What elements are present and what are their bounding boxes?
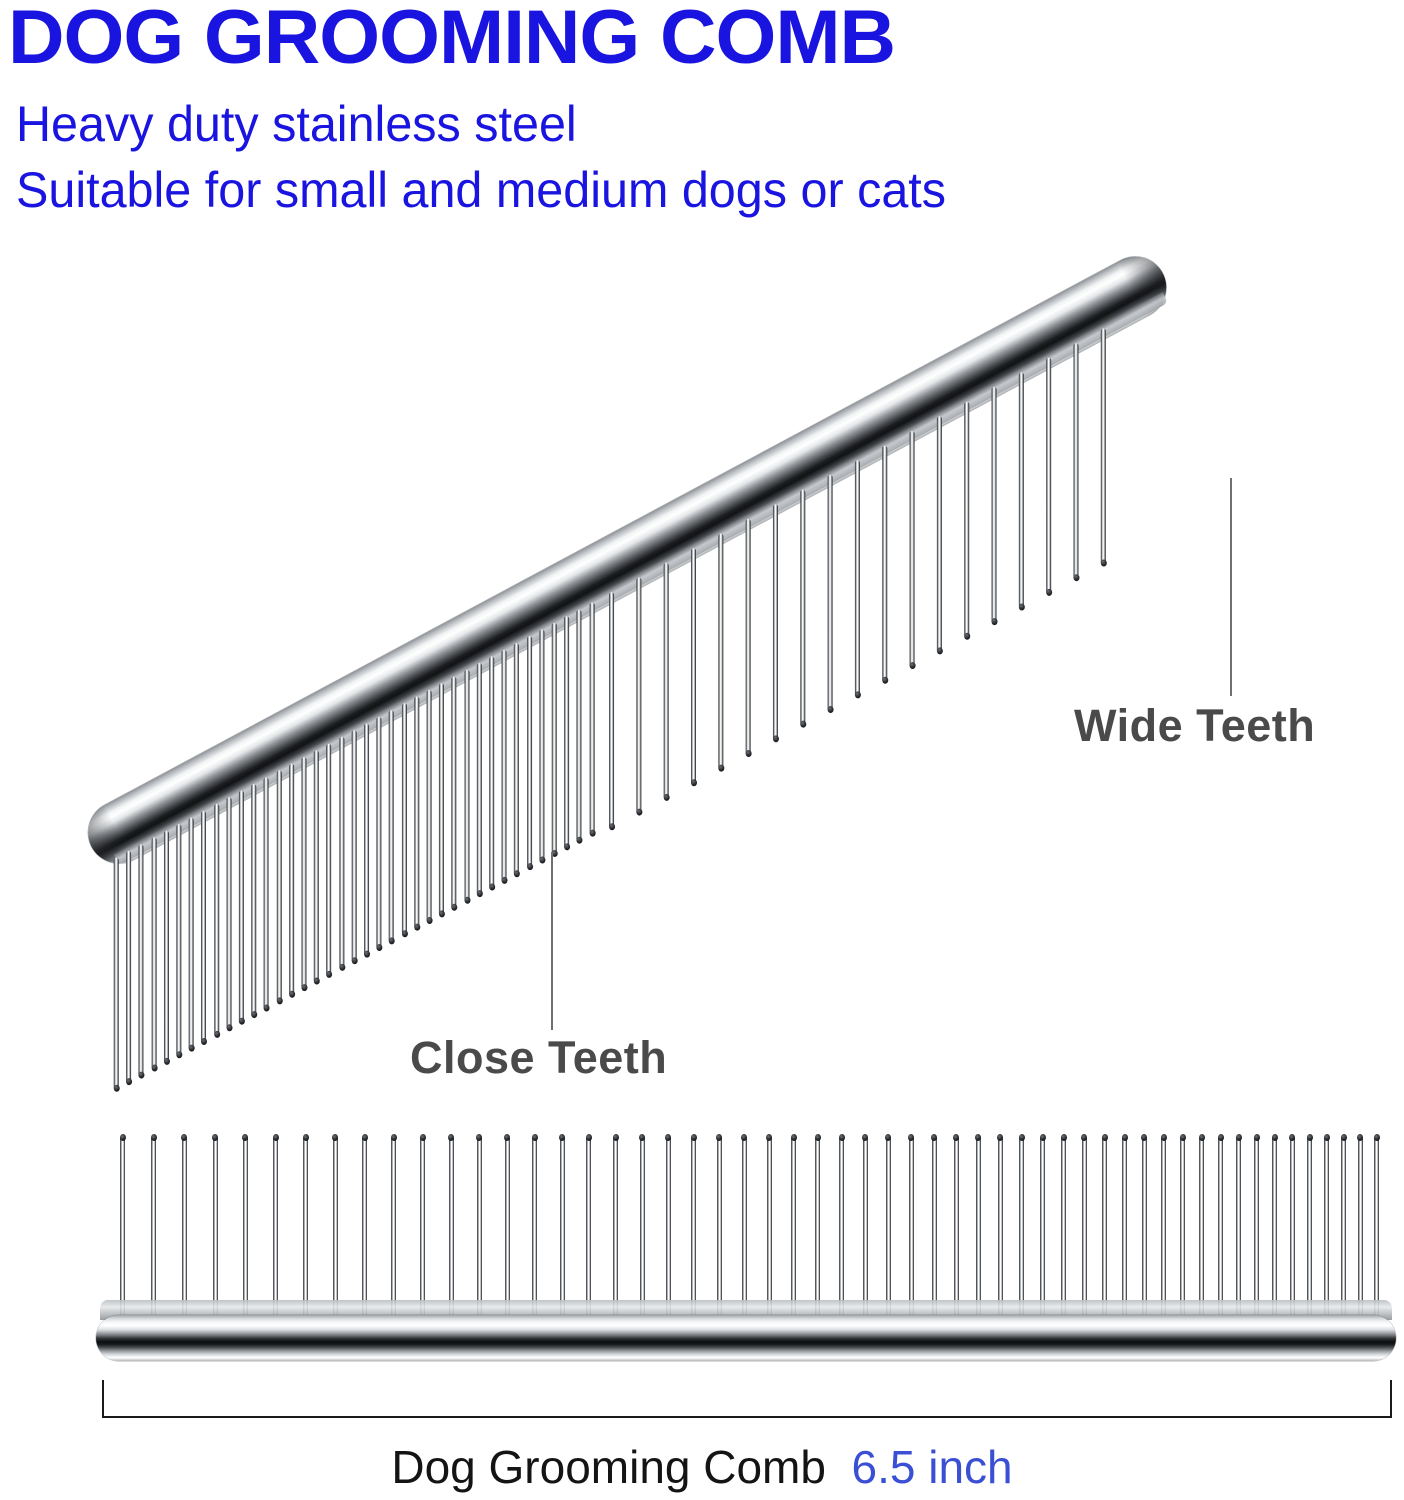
comb-pin xyxy=(717,1136,722,1316)
comb-pin-tip xyxy=(1019,1134,1025,1141)
comb-pin xyxy=(1254,1136,1259,1316)
comb-pin-tip xyxy=(953,1134,959,1141)
comb-pin xyxy=(666,1136,671,1316)
comb-pin xyxy=(998,1136,1003,1316)
comb-pin-tip xyxy=(559,1134,565,1141)
comb-pin-tip xyxy=(1272,1134,1278,1141)
comb-pin xyxy=(1061,1136,1066,1316)
comb-pin-tip xyxy=(691,1134,697,1141)
comb-pin-tip xyxy=(1122,1134,1128,1141)
comb-pin xyxy=(839,1136,844,1316)
comb-pin-tip xyxy=(885,1134,891,1141)
comb-pin-tip xyxy=(242,1134,248,1141)
comb-pin-tip xyxy=(1102,1134,1108,1141)
comb-pin-tip xyxy=(839,1134,845,1141)
comb-pin-tip xyxy=(766,1134,772,1141)
comb-pin xyxy=(1019,1136,1024,1316)
comb-pin-tip xyxy=(741,1134,747,1141)
comb-pin xyxy=(362,1136,367,1316)
comb-pin xyxy=(391,1136,396,1316)
comb-pin-tip xyxy=(1254,1134,1260,1141)
dimension-tick-right xyxy=(1390,1380,1392,1418)
comb-pin xyxy=(420,1136,425,1316)
comb-pin xyxy=(767,1136,772,1316)
comb-pin xyxy=(586,1136,591,1316)
comb-pin xyxy=(863,1136,868,1316)
comb-pin-tip xyxy=(1081,1134,1087,1141)
comb-pin xyxy=(1218,1136,1223,1316)
comb-pin xyxy=(1236,1136,1241,1316)
comb-pin xyxy=(449,1136,454,1316)
comb-pin xyxy=(954,1136,959,1316)
comb-pin-tip xyxy=(303,1134,309,1141)
comb-pin xyxy=(932,1136,937,1316)
comb-pin-tip xyxy=(1161,1134,1167,1141)
comb-pin-tip xyxy=(362,1134,368,1141)
comb-pin xyxy=(1307,1136,1312,1316)
comb-pin-tip xyxy=(613,1134,619,1141)
comb-pin xyxy=(505,1136,510,1316)
comb-pin-tip xyxy=(586,1134,592,1141)
comb-pin-tip xyxy=(391,1134,397,1141)
comb-pin xyxy=(182,1136,187,1316)
comb-pin xyxy=(303,1136,308,1316)
comb-pin-tip xyxy=(1061,1134,1067,1141)
comb-pin xyxy=(1199,1136,1204,1316)
comb-pin-tip xyxy=(420,1134,426,1141)
comb-pin xyxy=(151,1136,156,1316)
comb-pin xyxy=(1142,1136,1147,1316)
comb-pin xyxy=(791,1136,796,1316)
caption-product-name: Dog Grooming Comb xyxy=(391,1441,826,1493)
comb-pin xyxy=(560,1136,565,1316)
comb-pin-tip xyxy=(151,1134,157,1141)
comb-pin-tip xyxy=(815,1134,821,1141)
comb-pin xyxy=(532,1136,537,1316)
comb-pin xyxy=(1374,1136,1379,1316)
comb-pin xyxy=(976,1136,981,1316)
dimension-tick-left xyxy=(102,1380,104,1418)
comb-pin xyxy=(243,1136,248,1316)
comb-pin-tip xyxy=(504,1134,510,1141)
comb-pin xyxy=(691,1136,696,1316)
comb-pin xyxy=(1290,1136,1295,1316)
comb-side-view xyxy=(0,0,1404,1500)
comb-pin-tip xyxy=(1218,1134,1224,1141)
comb-pin-tip xyxy=(532,1134,538,1141)
comb-pin-tip xyxy=(1324,1134,1330,1141)
comb-pin-tip xyxy=(212,1134,218,1141)
comb-pin xyxy=(120,1136,125,1316)
comb-pin-tip xyxy=(1236,1134,1242,1141)
comb-pin xyxy=(1180,1136,1185,1316)
comb-pin-tip xyxy=(120,1134,126,1141)
comb-pin xyxy=(886,1136,891,1316)
comb-pin xyxy=(640,1136,645,1316)
comb-pin xyxy=(613,1136,618,1316)
infographic-canvas: DOG GROOMING COMB Heavy duty stainless s… xyxy=(0,0,1404,1500)
comb-pin xyxy=(742,1136,747,1316)
comb-pin-tip xyxy=(1141,1134,1147,1141)
comb-pin-tip xyxy=(1180,1134,1186,1141)
comb-pin xyxy=(1358,1136,1363,1316)
comb-pin-tip xyxy=(1307,1134,1313,1141)
comb-pin xyxy=(1341,1136,1346,1316)
comb-pin-tip xyxy=(448,1134,454,1141)
comb-pin-tip xyxy=(181,1134,187,1141)
comb-pin xyxy=(1122,1136,1127,1316)
comb-pin-tip xyxy=(332,1134,338,1141)
caption-product-size: 6.5 inch xyxy=(852,1441,1013,1493)
comb-pin xyxy=(1040,1136,1045,1316)
comb-side-handle-bar xyxy=(96,1315,1396,1361)
comb-pin-tip xyxy=(791,1134,797,1141)
product-caption: Dog Grooming Comb 6.5 inch xyxy=(0,1440,1404,1494)
comb-pin-tip xyxy=(862,1134,868,1141)
comb-pin-tip xyxy=(716,1134,722,1141)
comb-pin-tip xyxy=(639,1134,645,1141)
comb-pin-tip xyxy=(931,1134,937,1141)
comb-pin xyxy=(1324,1136,1329,1316)
comb-pin xyxy=(1161,1136,1166,1316)
comb-pin xyxy=(909,1136,914,1316)
comb-pin-tip xyxy=(1357,1134,1363,1141)
comb-pin-tip xyxy=(1341,1134,1347,1141)
comb-pin xyxy=(333,1136,338,1316)
comb-pin xyxy=(815,1136,820,1316)
comb-pin-tip xyxy=(997,1134,1003,1141)
comb-pin-tip xyxy=(975,1134,981,1141)
comb-pin-tip xyxy=(273,1134,279,1141)
comb-pin xyxy=(1082,1136,1087,1316)
comb-pin-tip xyxy=(908,1134,914,1141)
comb-pin-tip xyxy=(1040,1134,1046,1141)
comb-pin-tip xyxy=(476,1134,482,1141)
comb-pin xyxy=(1272,1136,1277,1316)
comb-pin xyxy=(1102,1136,1107,1316)
comb-pin-tip xyxy=(1199,1134,1205,1141)
comb-pin-tip xyxy=(1289,1134,1295,1141)
comb-pin xyxy=(213,1136,218,1316)
comb-pin xyxy=(477,1136,482,1316)
comb-pin xyxy=(273,1136,278,1316)
comb-pin-tip xyxy=(665,1134,671,1141)
dimension-line xyxy=(102,1416,1392,1418)
comb-pin-tip xyxy=(1374,1134,1380,1141)
